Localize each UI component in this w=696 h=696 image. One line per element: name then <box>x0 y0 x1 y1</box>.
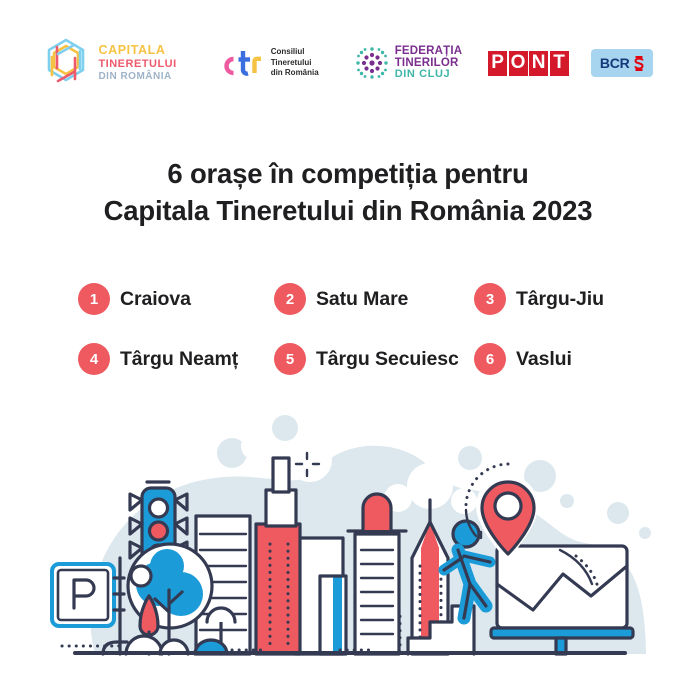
title-line-1: 6 orașe în competiția pentru <box>0 156 696 193</box>
city-list: 1 Craiova 2 Satu Mare 3 Târgu-Jiu 4 Târg… <box>78 276 638 382</box>
page-title: 6 orașe în competiția pentru Capitala Ti… <box>0 156 696 230</box>
ctr-line-1: Consiliul <box>271 47 305 56</box>
ctr-subtitle: Consiliul Tineretului din România <box>271 47 319 79</box>
city-item-targu-neamt[interactable]: 4 Târgu Neamț <box>78 343 274 375</box>
city-number-badge: 1 <box>78 283 110 315</box>
city-item-satu-mare[interactable]: 2 Satu Mare <box>274 283 474 315</box>
ctr-line-3: din România <box>271 68 319 77</box>
city-item-targu-jiu[interactable]: 3 Târgu-Jiu <box>474 283 634 315</box>
pont-letter-t: T <box>550 51 569 76</box>
bcr-logo[interactable]: BCR <box>591 49 653 77</box>
ctr-logo[interactable]: Consiliul Tineretului din România <box>221 47 319 79</box>
capitala-wordmark: CAPITALA TINERETULUI DIN ROMÂNIA <box>98 44 176 82</box>
city-number-badge: 5 <box>274 343 306 375</box>
city-item-vaslui[interactable]: 6 Vaslui <box>474 343 634 375</box>
capitala-line-1: CAPITALA <box>98 44 176 57</box>
city-number-badge: 6 <box>474 343 506 375</box>
map-board-icon <box>491 546 633 654</box>
city-number-badge: 3 <box>474 283 506 315</box>
pont-letter-o: O <box>509 51 528 76</box>
partner-logo-bar: CAPITALA TINERETULUI DIN ROMÂNIA Consili… <box>0 33 696 93</box>
federatia-line-3: DIN CLUJ <box>395 69 463 81</box>
city-number-badge: 4 <box>78 343 110 375</box>
city-name-label: Vaslui <box>516 348 572 371</box>
savings-bank-s-icon <box>634 56 644 71</box>
pont-letter-p: P <box>488 51 507 76</box>
low-building <box>320 576 346 654</box>
federatia-tinerilor-din-cluj-logo[interactable]: FEDERAȚIA TINERILOR DIN CLUJ <box>355 45 463 81</box>
federatia-wordmark: FEDERAȚIA TINERILOR DIN CLUJ <box>395 45 463 81</box>
pont-logo[interactable]: P O N T <box>488 51 569 76</box>
title-line-2: Capitala Tineretului din România 2023 <box>0 193 696 230</box>
capitala-line-2: TINERETULUI <box>98 59 176 70</box>
city-skyline-illustration: .ink { stroke:#343A52; stroke-width:3.2;… <box>0 398 696 668</box>
city-number-badge: 2 <box>274 283 306 315</box>
ctr-line-2: Tineretului <box>271 58 312 67</box>
city-name-label: Târgu Neamț <box>120 348 238 371</box>
city-item-craiova[interactable]: 1 Craiova <box>78 283 274 315</box>
ctr-wordmark-icon <box>221 48 263 78</box>
flower-dots-icon <box>355 46 389 80</box>
capitala-tineretului-logo[interactable]: CAPITALA TINERETULUI DIN ROMÂNIA <box>43 37 176 89</box>
bcr-wordmark: BCR <box>600 55 630 71</box>
pont-letter-n: N <box>529 51 548 76</box>
city-name-label: Craiova <box>120 288 191 311</box>
city-name-label: Satu Mare <box>316 288 408 311</box>
capitala-line-3: DIN ROMÂNIA <box>98 72 176 82</box>
hexagon-mark-icon <box>43 37 89 89</box>
city-row: 1 Craiova 2 Satu Mare 3 Târgu-Jiu <box>78 276 638 322</box>
city-name-label: Târgu-Jiu <box>516 288 604 311</box>
city-item-targu-secuiesc[interactable]: 5 Târgu Secuiesc <box>274 343 474 375</box>
city-name-label: Târgu Secuiesc <box>316 348 459 371</box>
city-row: 4 Târgu Neamț 5 Târgu Secuiesc 6 Vaslui <box>78 336 638 382</box>
federatia-line-1: FEDERAȚIA <box>395 45 463 57</box>
